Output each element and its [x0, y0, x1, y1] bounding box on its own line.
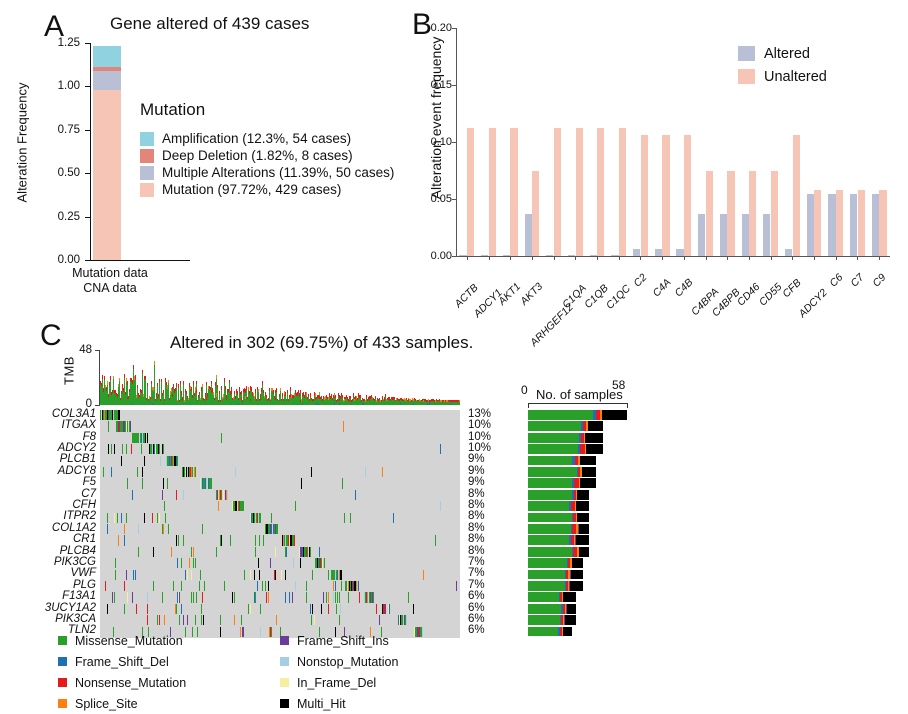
oncoprint-cell: [343, 421, 344, 431]
panel-a-x-axis-label-line2: CNA data: [30, 281, 190, 296]
oncoprint-cell: [440, 444, 441, 454]
oncoprint-cell: [234, 592, 235, 602]
panel-b-y-axis-label: Alteration event frequency: [428, 18, 444, 218]
oncoprint-cell: [333, 592, 334, 602]
panel-a-y-tick-label: 0.50: [0, 167, 80, 179]
oncoprint-cell: [275, 570, 276, 580]
samples-bar-segment: [585, 433, 603, 443]
oncoprint-row: [100, 467, 460, 477]
tmb-bar: [459, 400, 460, 405]
oncoprint-cell: [171, 547, 172, 557]
oncoprint-cell: [130, 421, 131, 431]
panel-b-bar-unaltered: [793, 135, 800, 256]
oncoprint-cell: [124, 604, 125, 614]
panel-b-bar-unaltered: [858, 190, 865, 256]
oncoprint-percent-label: 8%: [468, 533, 485, 545]
oncoprint-cell: [105, 581, 106, 591]
oncoprint-row: [100, 421, 460, 431]
panel-a-y-axis-line: [90, 43, 91, 260]
samples-bar-segment: [565, 615, 576, 625]
oncoprint-gene-label: ADCY2: [0, 442, 96, 454]
oncoprint-percent-label: 6%: [468, 602, 485, 614]
oncoprint-cell: [241, 615, 242, 625]
panel-c-legend-label: Frame_Shift_Del: [75, 655, 169, 669]
panel-b-x-tick-label: C4B: [672, 276, 695, 299]
oncoprint-cell: [376, 604, 377, 614]
panel-b-x-tick-mark: [467, 256, 468, 260]
oncoprint-cell: [176, 535, 177, 545]
oncoprint-cell: [234, 615, 235, 625]
panel-c-legend-item: Frame_Shift_Del: [58, 651, 186, 672]
oncoprint-cell: [189, 558, 190, 568]
oncoprint-cell: [193, 592, 194, 602]
oncoprint-cell: [281, 570, 282, 580]
panel-b-x-axis-line: [456, 256, 890, 257]
panel-b-bar-altered: [633, 249, 640, 256]
samples-bar-row: [528, 456, 596, 466]
oncoprint-percent-label: 13%: [468, 408, 491, 420]
oncoprint-cell: [359, 592, 360, 602]
panel-b-bar-altered: [850, 194, 857, 256]
oncoprint-cell: [413, 604, 414, 614]
oncoprint-cell: [197, 627, 198, 637]
samples-bar-segment: [602, 410, 627, 420]
panel-b-bar-unaltered: [597, 128, 604, 256]
oncoprint-cell: [114, 592, 115, 602]
samples-bar-segment: [563, 592, 576, 602]
oncoprint-cell: [373, 592, 374, 602]
oncoprint-cell: [310, 547, 311, 557]
oncoprint-row: [100, 547, 460, 557]
oncoprint-cell: [196, 592, 197, 602]
oncoprint-cell: [285, 592, 286, 602]
samples-bar-segment: [528, 444, 578, 454]
panel-b-bar-unaltered: [706, 171, 713, 257]
oncoprint-cell: [167, 478, 168, 488]
oncoprint-cell: [147, 433, 148, 443]
panel-b-y-tick-label: 0.15: [408, 79, 452, 91]
oncoprint-cell: [260, 604, 261, 614]
oncoprint-cell: [324, 558, 325, 568]
panel-b-x-tick-label: CFB: [781, 277, 804, 300]
oncoprint-cell: [195, 615, 196, 625]
oncoprint-cell: [117, 513, 118, 523]
panel-b-y-tick-label: 0.05: [408, 193, 452, 205]
samples-bar-segment: [528, 467, 577, 477]
panel-c-legend-swatch: [280, 657, 289, 666]
panel-c-legend-swatch: [58, 657, 67, 666]
oncoprint-cell: [159, 513, 160, 523]
panel-c-legend-swatch: [58, 678, 67, 687]
oncoprint-percent-label: 10%: [468, 419, 491, 431]
oncoprint-cell: [268, 592, 269, 602]
panel-b-legend-item: Altered: [738, 42, 827, 65]
samples-bar-segment: [571, 570, 583, 580]
oncoprint-cell: [159, 615, 160, 625]
oncoprint-cell: [289, 592, 290, 602]
oncoprint-row: [100, 410, 460, 420]
oncoprint-percent-label: 6%: [468, 613, 485, 625]
oncoprint-cell: [456, 581, 457, 591]
panel-b: B Alteration event frequency 0.000.050.1…: [408, 0, 908, 315]
oncoprint-cell: [203, 615, 204, 625]
oncoprint-gene-label: F8: [0, 431, 96, 443]
panel-c-legend-column-1: Missense_MutationFrame_Shift_DelNonsense…: [58, 630, 186, 714]
oncoprint-cell: [177, 558, 178, 568]
oncoprint-percent-label: 6%: [468, 590, 485, 602]
oncoprint-cell: [142, 478, 143, 488]
panel-c-legend-item: Multi_Hit: [280, 693, 398, 714]
panel-a-x-axis-label: Mutation data CNA data: [30, 266, 190, 296]
samples-bar-row: [528, 547, 589, 557]
oncoprint-cell: [147, 592, 148, 602]
panel-c-legend-swatch: [280, 699, 289, 708]
panel-c-legend-item: Splice_Site: [58, 693, 186, 714]
panel-b-y-tick-mark: [452, 256, 456, 257]
oncoprint-gene-label: COL3A1: [0, 408, 96, 420]
oncoprint-cell: [328, 570, 329, 580]
panel-a-y-tick-label: 1.00: [0, 80, 80, 92]
panel-b-bar-altered: [503, 255, 510, 256]
panel-b-bar-altered: [568, 255, 575, 256]
panel-b-legend-label: Unaltered: [764, 69, 827, 85]
oncoprint-gene-label: ITGAX: [0, 419, 96, 431]
panel-b-x-tick-mark: [489, 256, 490, 260]
oncoprint-row: [100, 570, 460, 580]
panel-b-legend: AlteredUnaltered: [738, 42, 827, 88]
panel-c-legend-item: Missense_Mutation: [58, 630, 186, 651]
oncoprint-cell: [118, 535, 119, 545]
panel-b-x-tick-mark: [640, 256, 641, 260]
oncoprint-cell: [195, 467, 196, 477]
samples-bar-segment: [579, 524, 590, 534]
panel-b-x-tick-mark: [554, 256, 555, 260]
panel-a-y-tick-mark: [85, 86, 90, 87]
panel-b-x-tick-mark: [814, 256, 815, 260]
samples-bar-segment: [528, 478, 572, 488]
oncoprint-cell: [341, 570, 342, 580]
oncoprint-cell: [202, 592, 203, 602]
oncoprint-cell: [382, 467, 383, 477]
samples-bar-segment: [572, 558, 582, 568]
panel-c-legend-swatch: [280, 678, 289, 687]
panel-b-x-tick-mark: [597, 256, 598, 260]
panel-c-legend-label: Missense_Mutation: [75, 634, 183, 648]
samples-bar-segment: [576, 501, 589, 511]
panel-a: A Gene altered of 439 cases Alteration F…: [0, 0, 410, 315]
oncoprint-row: [100, 524, 460, 534]
panel-b-bar-altered: [698, 214, 705, 256]
panel-b-x-tick-mark: [836, 256, 837, 260]
oncoprint-cell: [211, 478, 212, 488]
oncoprint-cell: [276, 615, 277, 625]
tmb-bar-main-segment: [459, 402, 460, 405]
panel-a-bar-segment: [93, 71, 121, 91]
oncoprint-percent-label: 9%: [468, 453, 485, 465]
oncoprint-cell: [187, 615, 188, 625]
oncoprint-cell: [142, 467, 143, 477]
panel-b-x-tick-label: C1QA: [560, 282, 589, 311]
panel-b-bar-altered: [807, 194, 814, 256]
panel-c-letter: C: [40, 321, 62, 351]
oncoprint-cell: [153, 581, 154, 591]
oncoprint-percent-label: 8%: [468, 488, 485, 500]
oncoprint-cell: [259, 535, 260, 545]
oncoprint-cell: [258, 558, 259, 568]
oncoprint-cell: [126, 444, 127, 454]
panel-b-x-tick-label: C2: [632, 272, 650, 290]
panel-b-x-tick-label: C6: [827, 272, 845, 290]
panel-b-bar-altered: [828, 194, 835, 256]
oncoprint-cell: [262, 581, 263, 591]
oncoprint-cell: [255, 547, 256, 557]
panel-b-y-tick-label: 0.10: [408, 136, 452, 148]
oncoprint-cell: [200, 570, 201, 580]
panel-a-legend: Mutation Amplification (12.3%, 54 cases)…: [140, 100, 394, 198]
oncoprint-cell: [152, 513, 153, 523]
oncoprint-cell: [183, 535, 184, 545]
oncoprint-cell: [181, 604, 182, 614]
oncoprint-cell: [365, 467, 366, 477]
panel-b-bar-altered: [872, 194, 879, 256]
oncoprint-row: [100, 581, 460, 591]
panel-a-y-tick-mark: [85, 43, 90, 44]
panel-b-legend-item: Unaltered: [738, 65, 827, 88]
panel-b-bar-unaltered: [467, 128, 474, 256]
panel-b-bar-unaltered: [727, 171, 734, 257]
oncoprint-cell: [260, 513, 261, 523]
panel-b-x-tick-label: AKT3: [518, 281, 545, 308]
oncoprint-cell: [339, 592, 340, 602]
oncoprint-cell: [114, 513, 115, 523]
panel-a-bar-segment: [93, 90, 121, 260]
oncoprint-cell: [240, 627, 241, 637]
oncoprint-cell: [406, 615, 407, 625]
panel-a-legend-title: Mutation: [140, 100, 394, 120]
oncoprint-gene-label: CFH: [0, 499, 96, 511]
panel-b-x-tick-mark: [727, 256, 728, 260]
oncoprint-cell: [136, 604, 137, 614]
oncoprint-cell: [312, 604, 313, 614]
oncoprint-cell: [163, 524, 164, 534]
oncoprint-cell: [341, 581, 342, 591]
oncoprint-cell: [121, 513, 122, 523]
panel-b-legend-swatch: [738, 69, 755, 84]
panel-b-bar-altered: [481, 255, 488, 256]
oncoprint-cell: [328, 604, 329, 614]
oncoprint-cell: [339, 615, 340, 625]
samples-bar-segment: [588, 421, 603, 431]
oncoprint-cell: [275, 547, 276, 557]
oncoprint-cell: [112, 592, 113, 602]
oncoprint-cell: [314, 615, 315, 625]
samples-bar-tick-min: [528, 403, 529, 408]
samples-bar-segment: [528, 570, 565, 580]
oncoprint-cell: [108, 421, 109, 431]
samples-bar-axis-line: [528, 403, 628, 404]
oncoprint-cell: [243, 501, 244, 511]
oncoprint-cell: [111, 467, 112, 477]
oncoprint-row: [100, 592, 460, 602]
oncoprint-row: [100, 501, 460, 511]
oncoprint-cell: [250, 604, 251, 614]
panel-a-y-tick-mark: [85, 260, 90, 261]
oncoprint-percent-label: 8%: [468, 499, 485, 511]
samples-bar-segment: [580, 478, 596, 488]
panel-a-bar-segment: [93, 46, 121, 67]
panel-b-x-tick-mark: [532, 256, 533, 260]
oncoprint-row: [100, 535, 460, 545]
oncoprint-cell: [306, 592, 307, 602]
panel-b-bar-unaltered: [771, 171, 778, 257]
oncoprint-cell: [408, 592, 409, 602]
samples-bar-segment: [567, 604, 576, 614]
panel-b-y-tick-label: 0.00: [408, 250, 452, 262]
oncoprint-row: [100, 513, 460, 523]
panel-b-x-tick-label: C9: [871, 272, 889, 290]
samples-bar-segment: [586, 444, 603, 454]
oncoprint-cell: [108, 444, 109, 454]
oncoprint-cell: [311, 615, 312, 625]
oncoprint-cell: [119, 410, 120, 420]
oncoprint-cell: [385, 604, 386, 614]
panel-b-bar-unaltered: [836, 190, 843, 256]
oncoprint-cell: [311, 467, 312, 477]
panel-b-x-tick-mark: [792, 256, 793, 260]
oncoprint-cell: [176, 490, 177, 500]
panel-c-legend-item: Frame_Shift_Ins: [280, 630, 398, 651]
oncoprint-cell: [271, 627, 272, 637]
samples-bar-segment: [580, 456, 597, 466]
oncoprint-cell: [248, 604, 249, 614]
panel-a-legend-label: Multiple Alterations (11.39%, 50 cases): [162, 165, 394, 180]
oncoprint-cell: [192, 627, 193, 637]
samples-bar-title: No. of samples: [536, 387, 623, 402]
oncoprint-cell: [121, 456, 122, 466]
panel-a-legend-label: Deep Deletion (1.82%, 8 cases): [162, 148, 353, 163]
panel-a-y-tick-label: 0.75: [0, 124, 80, 136]
panel-c-legend-item: In_Frame_Del: [280, 672, 398, 693]
oncoprint-cell: [216, 547, 217, 557]
panel-b-bar-altered: [763, 214, 770, 256]
samples-bar-row: [528, 581, 583, 591]
oncoprint-cell: [159, 444, 160, 454]
oncoprint-cell: [259, 570, 260, 580]
samples-bar-row: [528, 467, 596, 477]
oncoprint-gene-label: ITPR2: [0, 510, 96, 522]
oncoprint-cell: [423, 570, 424, 580]
samples-bar-segment: [528, 581, 565, 591]
oncoprint-gene-label: COL1A2: [0, 522, 96, 534]
samples-bar-row: [528, 478, 596, 488]
oncoprint-gene-label: PIK3CG: [0, 556, 96, 568]
panel-c-legend-item: Nonstop_Mutation: [280, 651, 398, 672]
oncoprint-cell: [162, 490, 163, 500]
panel-b-bar-unaltered: [489, 128, 496, 256]
oncoprint-cell: [243, 627, 244, 637]
oncoprint-cell: [271, 513, 272, 523]
panel-a-legend-swatch: [140, 132, 154, 146]
oncoprint-cell: [227, 490, 228, 500]
oncoprint-cell: [103, 467, 104, 477]
oncoprint-gene-label: PLCB4: [0, 545, 96, 557]
panel-c-legend-column-2: Frame_Shift_InsNonstop_MutationIn_Frame_…: [280, 630, 398, 714]
oncoprint-row: [100, 433, 460, 443]
oncoprint-cell: [127, 478, 128, 488]
samples-bar-segment: [528, 513, 572, 523]
samples-bar-segment: [577, 513, 590, 523]
oncoprint-row: [100, 490, 460, 500]
oncoprint-percent-label: 8%: [468, 545, 485, 557]
samples-bar-row: [528, 604, 576, 614]
samples-bar-chart: [528, 410, 638, 638]
panel-c-legend-swatch: [58, 699, 67, 708]
panel-c-legend-swatch: [280, 636, 289, 645]
oncoprint-cell: [124, 581, 125, 591]
panel-a-legend-item: Multiple Alterations (11.39%, 50 cases): [140, 164, 394, 181]
panel-b-bar-altered: [546, 255, 553, 256]
oncoprint-cell: [255, 592, 256, 602]
oncoprint-cell: [201, 604, 202, 614]
oncoprint-cell: [126, 570, 127, 580]
oncoprint-row: [100, 604, 460, 614]
panel-a-legend-item: Amplification (12.3%, 54 cases): [140, 130, 394, 147]
panel-a-legend-swatch: [140, 183, 154, 197]
panel-b-bar-unaltered: [510, 128, 517, 256]
panel-b-x-tick-mark: [879, 256, 880, 260]
oncoprint-cell: [422, 627, 423, 637]
samples-bar-segment: [528, 592, 559, 602]
panel-c-legend-label: Nonstop_Mutation: [297, 655, 398, 669]
oncoprint-cell: [312, 570, 313, 580]
oncoprint-percent-label: 7%: [468, 556, 485, 568]
oncoprint-cell: [111, 444, 112, 454]
panel-c: C Altered in 302 (69.75%) of 433 samples…: [0, 315, 908, 710]
oncoprint-cell: [328, 592, 329, 602]
tmb-bar-chart: [100, 350, 460, 405]
samples-bar-segment: [582, 467, 596, 477]
oncoprint-cell: [220, 615, 221, 625]
panel-c-legend-label: Nonsense_Mutation: [75, 676, 186, 690]
oncoprint-cell: [344, 513, 345, 523]
oncoprint-cell: [255, 535, 256, 545]
samples-bar-row: [528, 558, 583, 568]
panel-b-bar-altered: [459, 255, 466, 256]
oncoprint-percent-label: 9%: [468, 465, 485, 477]
panel-b-x-tick-mark: [857, 256, 858, 260]
oncoprint-cell: [230, 535, 231, 545]
panel-b-x-tick-label: CD46: [735, 281, 762, 308]
panel-b-x-tick-label: AKT1: [496, 281, 523, 308]
oncoprint-row: [100, 478, 460, 488]
oncoprint-cell: [141, 444, 142, 454]
panel-b-x-tick-label: C4A: [651, 276, 674, 299]
samples-bar-segment: [563, 627, 572, 637]
oncoprint-cell: [107, 513, 108, 523]
oncoprint-cell: [181, 558, 182, 568]
samples-bar-segment: [528, 410, 593, 420]
oncoprint-cell: [178, 535, 179, 545]
panel-a-legend-items: Amplification (12.3%, 54 cases)Deep Dele…: [140, 130, 394, 198]
panel-b-bar-altered: [785, 249, 792, 256]
panel-b-y-tick-label: 0.20: [408, 22, 452, 34]
panel-a-legend-swatch: [140, 149, 154, 163]
oncoprint-gene-label: CR1: [0, 533, 96, 545]
oncoprint-cell: [355, 490, 356, 500]
samples-bar-row: [528, 513, 589, 523]
panel-b-legend-swatch: [738, 46, 755, 61]
oncoprint-cell: [348, 592, 349, 602]
